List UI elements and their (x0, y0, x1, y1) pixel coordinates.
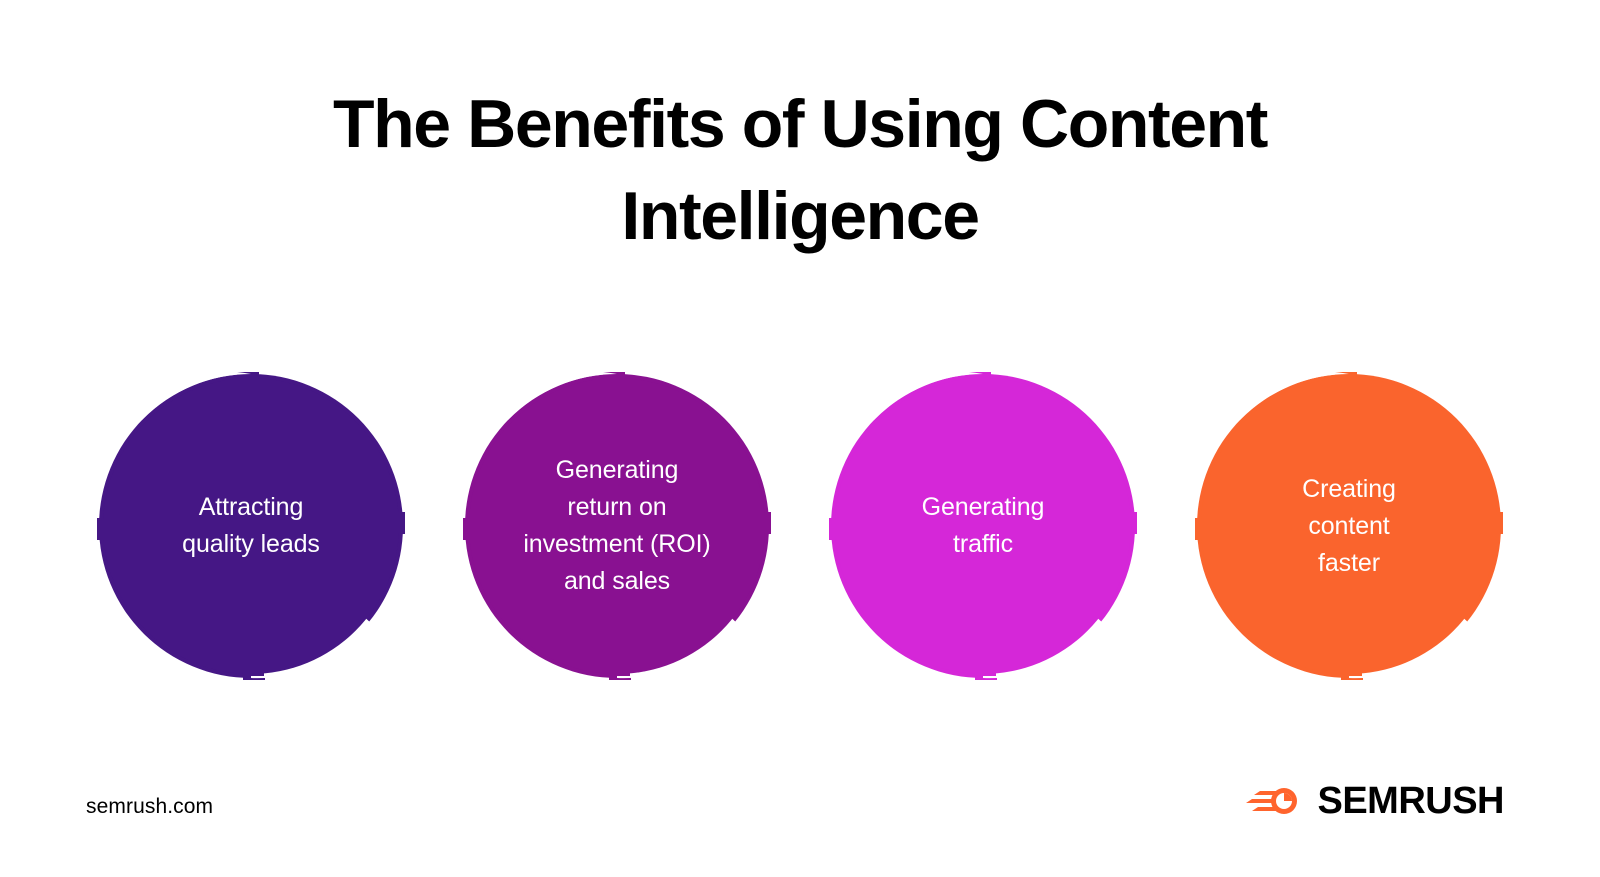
badge-inner-notch-right-3 (1109, 513, 1133, 533)
benefit-badge-row: Attracting quality leads (0, 372, 1600, 702)
badge-inner-notch-right-1 (377, 513, 401, 533)
badge-inner-notch-bottom-4 (1342, 652, 1362, 676)
infographic-canvas: The Benefits of Using Content Intelligen… (0, 0, 1600, 877)
page-title: The Benefits of Using Content Intelligen… (210, 78, 1390, 262)
badge-inner-notch-top-3 (970, 376, 990, 400)
badge-inner-notch-bottom-2 (610, 652, 630, 676)
benefit-badge-label-1: Attracting quality leads (139, 489, 363, 563)
badge-inner-notch-left-2 (467, 519, 491, 539)
benefit-badge-label-3: Generating traffic (871, 489, 1095, 563)
semrush-comet-icon (1242, 779, 1304, 823)
benefit-badge-label-4: Creating content faster (1237, 471, 1461, 582)
badge-inner-notch-top-4 (1336, 376, 1356, 400)
footer: semrush.com SEMRUSH (0, 767, 1600, 877)
badge-inner-notch-top-1 (238, 376, 258, 400)
badge-inner-notch-left-1 (101, 519, 125, 539)
benefit-badge-3: Generating traffic (829, 372, 1137, 680)
site-url-text: semrush.com (86, 795, 213, 819)
badge-inner-notch-bottom-3 (976, 652, 996, 676)
benefit-badge-2: Generating return on investment (ROI) an… (463, 372, 771, 680)
badge-inner-notch-left-3 (833, 519, 857, 539)
badge-inner-notch-right-2 (743, 513, 767, 533)
badge-inner-notch-right-4 (1475, 513, 1499, 533)
badge-inner-notch-bottom-1 (244, 652, 264, 676)
page-title-text: The Benefits of Using Content Intelligen… (210, 78, 1390, 262)
semrush-logo: SEMRUSH (1242, 779, 1504, 823)
badge-inner-notch-left-4 (1199, 519, 1223, 539)
benefit-badge-1: Attracting quality leads (97, 372, 405, 680)
benefit-badge-4: Creating content faster (1195, 372, 1503, 680)
badge-inner-notch-top-2 (604, 376, 624, 400)
semrush-wordmark: SEMRUSH (1317, 782, 1504, 820)
benefit-badge-label-2: Generating return on investment (ROI) an… (505, 452, 729, 600)
